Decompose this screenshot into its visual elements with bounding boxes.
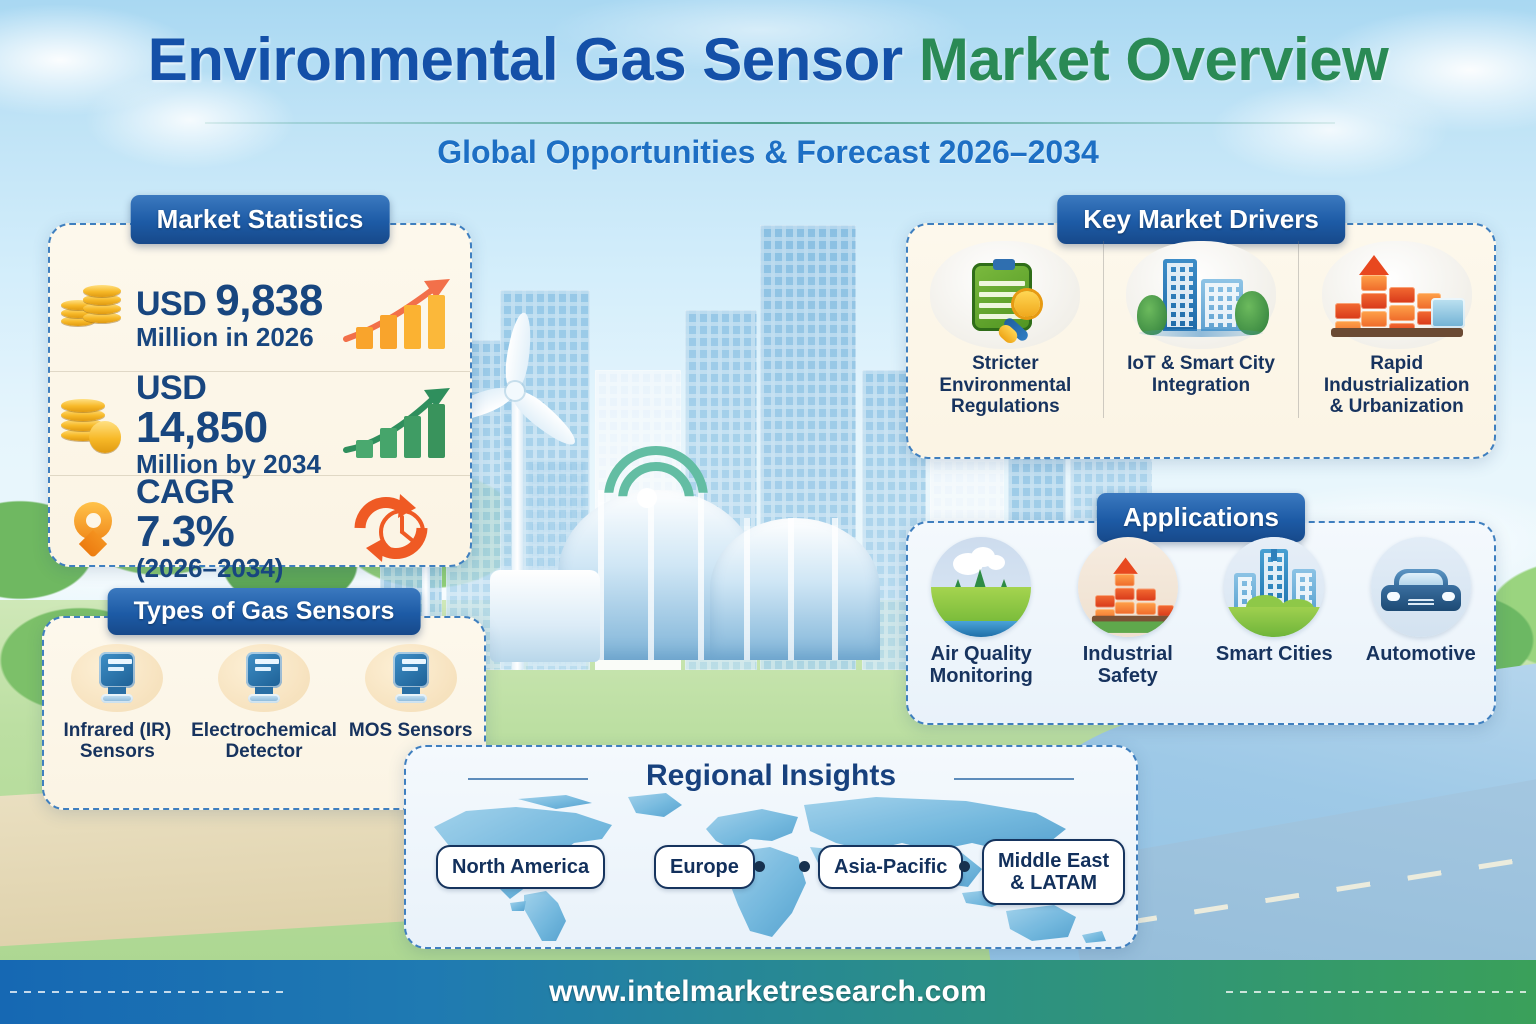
stat-text: USD 9,838 Million in 2026 bbox=[136, 279, 340, 350]
stat-prefix: USD bbox=[136, 285, 206, 323]
market-drivers-tab: Key Market Drivers bbox=[1057, 195, 1345, 244]
region-pill-north-america[interactable]: North America bbox=[436, 845, 605, 889]
stat-row: USD 14,850 Million by 2034 bbox=[50, 371, 470, 476]
stat-sub: Million in 2026 bbox=[136, 324, 340, 351]
page-title: Environmental Gas Sensor Market Overview bbox=[0, 28, 1536, 91]
regional-insights-title: Regional Insights bbox=[406, 759, 1136, 793]
application-item[interactable]: Smart Cities bbox=[1201, 537, 1348, 688]
stat-value: 14,850 bbox=[136, 403, 268, 452]
storage-tank bbox=[490, 570, 600, 662]
city-skyline-icon bbox=[1224, 537, 1324, 637]
page-subtitle: Global Opportunities & Forecast 2026–203… bbox=[0, 134, 1536, 171]
stat-value: 9,838 bbox=[215, 276, 323, 325]
infographic-canvas: Environmental Gas Sensor Market Overview… bbox=[0, 0, 1536, 1024]
clock-cycle-icon bbox=[340, 486, 460, 570]
market-driver-item[interactable]: Rapid Industrialization & Urbanization bbox=[1298, 241, 1494, 418]
industrial-bricks-icon bbox=[1322, 241, 1472, 349]
sensor-type-label: Infrared (IR) Sensors bbox=[63, 720, 171, 763]
market-driver-item[interactable]: Stricter Environmental Regulations bbox=[908, 241, 1103, 418]
forest-cloud-icon bbox=[931, 537, 1031, 637]
sensor-type-item[interactable]: Infrared (IR) Sensors bbox=[44, 644, 191, 763]
applications-tab: Applications bbox=[1097, 493, 1305, 542]
market-drivers-panel: Key Market Drivers Stricter Environmenta… bbox=[906, 223, 1496, 459]
connector-dot bbox=[799, 861, 810, 872]
footer-url[interactable]: www.intelmarketresearch.com bbox=[549, 975, 987, 1009]
sensor-type-label: Electrochemical Detector bbox=[191, 720, 337, 763]
green-growth-bar-chart-icon bbox=[340, 382, 460, 466]
dome-building bbox=[710, 518, 880, 660]
stat-row: CAGR 7.3% (2026–2034) bbox=[50, 475, 470, 580]
region-pill-asia-pacific[interactable]: Asia-Pacific bbox=[818, 845, 963, 889]
map-pin-icon bbox=[50, 502, 136, 554]
sensor-type-label: MOS Sensors bbox=[349, 720, 473, 741]
gas-sensor-device-icon bbox=[218, 644, 310, 712]
stat-text: CAGR 7.3% (2026–2034) bbox=[136, 475, 340, 581]
market-driver-label: IoT & Smart City Integration bbox=[1127, 353, 1275, 396]
gas-sensor-device-icon bbox=[365, 644, 457, 712]
application-item[interactable]: Air Quality Monitoring bbox=[908, 537, 1055, 688]
stat-sub: (2026–2034) bbox=[136, 555, 340, 582]
gas-sensor-device-icon bbox=[71, 644, 163, 712]
industrial-bricks-icon bbox=[1078, 537, 1178, 637]
market-statistics-panel: Market Statistics USD 9,838 Million in 2… bbox=[48, 223, 472, 567]
regional-insights-panel: Regional Insights bbox=[404, 745, 1138, 949]
region-pill-row: North America Europe Asia-Pacific Middle… bbox=[406, 839, 1136, 909]
market-driver-item[interactable]: IoT & Smart City Integration bbox=[1103, 241, 1299, 418]
applications-panel: Applications Air Quality Monitoring bbox=[906, 521, 1496, 725]
stat-prefix: CAGR bbox=[136, 473, 234, 511]
application-label: Industrial Safety bbox=[1083, 643, 1173, 688]
smart-city-buildings-icon bbox=[1126, 241, 1276, 349]
wifi-icon bbox=[592, 438, 702, 518]
orange-growth-bar-chart-icon bbox=[340, 273, 460, 357]
application-label: Automotive bbox=[1366, 643, 1476, 665]
stat-value: 7.3% bbox=[136, 507, 234, 556]
header-divider bbox=[205, 122, 1335, 124]
application-label: Smart Cities bbox=[1216, 643, 1333, 665]
title-blue-part: Environmental Gas Sensor bbox=[148, 26, 903, 93]
title-green-part: Market Overview bbox=[919, 26, 1388, 93]
gold-coins-icon bbox=[50, 395, 136, 453]
sensor-type-item[interactable]: Electrochemical Detector bbox=[191, 644, 338, 763]
regional-divider-right bbox=[954, 778, 1074, 780]
market-statistics-tab: Market Statistics bbox=[131, 195, 390, 244]
connector-dot bbox=[959, 861, 970, 872]
stat-text: USD 14,850 Million by 2034 bbox=[136, 371, 340, 477]
sensor-types-tab: Types of Gas Sensors bbox=[108, 588, 421, 635]
stat-row: USD 9,838 Million in 2026 bbox=[50, 263, 470, 367]
clipboard-magnifier-icon bbox=[930, 241, 1080, 349]
connector-dot bbox=[754, 861, 765, 872]
application-label: Air Quality Monitoring bbox=[930, 643, 1033, 688]
application-item[interactable]: Automotive bbox=[1348, 537, 1495, 688]
gold-coins-icon bbox=[50, 286, 136, 344]
region-pill-middle-east-latam[interactable]: Middle East & LATAM bbox=[982, 839, 1125, 905]
footer-bar: www.intelmarketresearch.com bbox=[0, 960, 1536, 1024]
car-icon bbox=[1371, 537, 1471, 637]
market-driver-label: Rapid Industrialization & Urbanization bbox=[1324, 353, 1470, 418]
footer-dash-right bbox=[1226, 991, 1526, 993]
footer-dash-left bbox=[10, 991, 290, 993]
application-item[interactable]: Industrial Safety bbox=[1055, 537, 1202, 688]
market-driver-label: Stricter Environmental Regulations bbox=[939, 353, 1071, 418]
stat-prefix: USD bbox=[136, 369, 206, 407]
region-pill-europe[interactable]: Europe bbox=[654, 845, 755, 889]
